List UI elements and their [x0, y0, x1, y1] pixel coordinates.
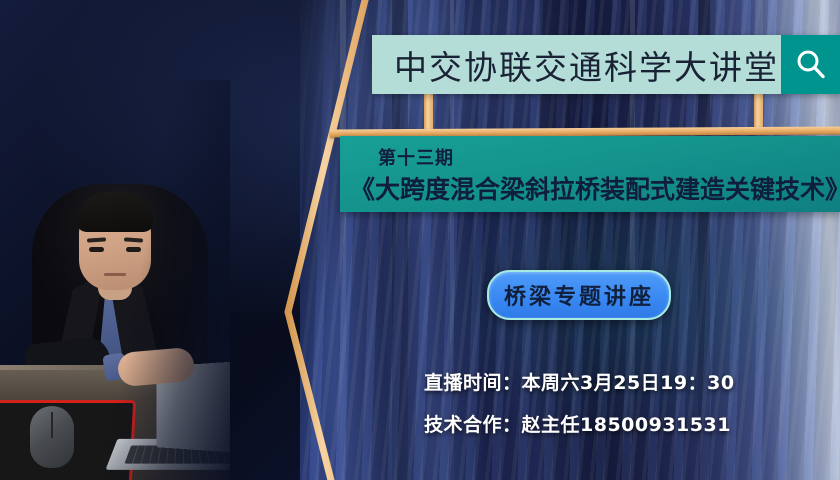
search-icon [794, 48, 828, 82]
backdrop-streak [340, 0, 346, 480]
search-button[interactable] [781, 35, 840, 94]
photo-edge-fade [0, 80, 230, 480]
speaker-photo [0, 80, 230, 480]
title-banner: 第十三期 《大跨度混合梁斜拉桥装配式建造关键技术》 [340, 136, 840, 212]
poster-root: 赵健 正高级工程师、集团科技 信息部副部长兼四公司副 总经理、总工程师 [0, 0, 840, 480]
topic-badge-label: 桥梁专题讲座 [504, 279, 654, 311]
lecture-title: 《大跨度混合梁斜拉桥装配式建造关键技术》 [350, 170, 830, 206]
header-bar: 中交协联交通科学大讲堂 [372, 35, 840, 94]
header-title: 中交协联交通科学大讲堂 [372, 41, 781, 89]
topic-badge[interactable]: 桥梁专题讲座 [487, 270, 671, 320]
issue-number: 第十三期 [378, 144, 454, 170]
live-time-text: 直播时间：本周六3月25日19：30 [424, 368, 735, 395]
contact-text: 技术合作：赵主任18500931531 [424, 410, 731, 437]
